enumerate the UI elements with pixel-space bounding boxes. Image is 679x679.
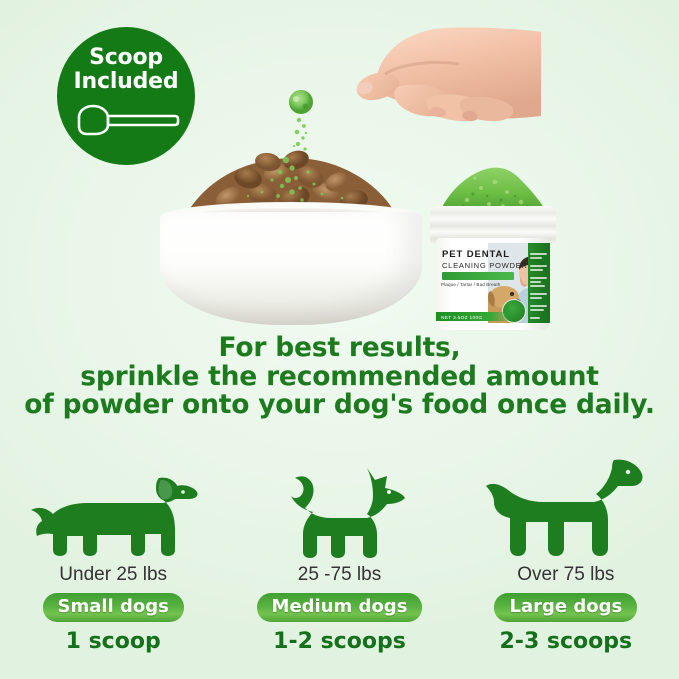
- infographic-page: PET DENTAL CLEANING POWDER Plaque / Tart…: [0, 0, 679, 679]
- dose-amount-medium: 1-2 scoops: [273, 630, 406, 654]
- jar-benefit-bar: [442, 272, 514, 280]
- dose-amount-small: 1 scoop: [66, 630, 161, 654]
- white-dog-bowl: [160, 150, 422, 330]
- product-jar: PET DENTAL CLEANING POWDER Plaque / Tart…: [428, 166, 558, 331]
- dose-pill-small: Small dogs: [43, 593, 184, 622]
- hand-sprinkling-icon: [341, 24, 541, 144]
- jar-side-panel: [528, 243, 550, 323]
- dose-column-small: Under 25 lbs Small dogs 1 scoop: [0, 448, 226, 663]
- dose-column-large: Over 75 lbs Large dogs 2-3 scoops: [453, 448, 679, 663]
- headline-line-1: For best results,: [0, 334, 679, 363]
- labrador-silhouette: [486, 448, 646, 560]
- scoop-included-badge: Scoop Included: [57, 27, 195, 165]
- badge-line-1: Scoop: [89, 46, 163, 70]
- dose-column-medium: 25 -75 lbs Medium dogs 1-2 scoops: [226, 448, 452, 663]
- jar-title: PET DENTAL: [442, 249, 510, 260]
- shiba-silhouette: [271, 448, 407, 560]
- headline: For best results, sprinkle the recommend…: [0, 334, 679, 420]
- badge-line-2: Included: [74, 70, 179, 94]
- jar-subtitle: CLEANING POWDER: [442, 261, 528, 270]
- dose-weight-large: Over 75 lbs: [517, 564, 614, 586]
- dose-amount-large: 2-3 scoops: [500, 630, 633, 654]
- dose-pill-large: Large dogs: [494, 593, 637, 622]
- dachshund-silhouette: [27, 448, 199, 560]
- jar-benefit-icons: Plaque / Tartar / Bad Breath: [441, 282, 519, 287]
- jar-body: PET DENTAL CLEANING POWDER Plaque / Tart…: [436, 238, 550, 330]
- headline-line-3: of powder onto your dog's food once dail…: [0, 391, 679, 420]
- jar-net-weight: NET 3.5OZ 100G: [441, 316, 482, 321]
- headline-line-2: sprinkle the recommended amount: [0, 363, 679, 392]
- dose-pill-medium: Medium dogs: [257, 593, 423, 622]
- dose-weight-medium: 25 -75 lbs: [298, 564, 381, 586]
- dose-weight-small: Under 25 lbs: [59, 564, 167, 586]
- product-photo-area: PET DENTAL CLEANING POWDER Plaque / Tart…: [0, 0, 679, 335]
- dosage-row: Under 25 lbs Small dogs 1 scoop 25 -75 l…: [0, 448, 679, 663]
- jar-label: PET DENTAL CLEANING POWDER Plaque / Tart…: [436, 243, 550, 323]
- scoop-spoon-icon: [71, 103, 181, 142]
- bowl-body: [160, 212, 422, 325]
